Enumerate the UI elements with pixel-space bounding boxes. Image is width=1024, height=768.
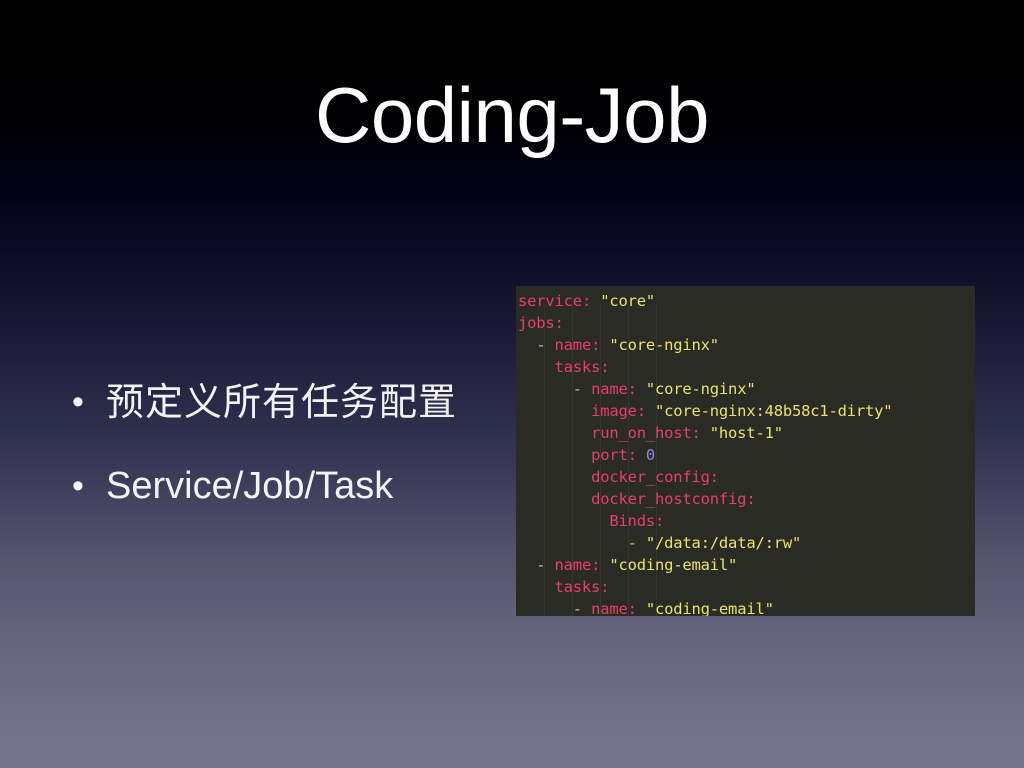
- code-token-str: "core-nginx": [646, 380, 756, 398]
- code-lines: service: "core"jobs: - name: "core-nginx…: [516, 290, 975, 616]
- code-block: service: "core"jobs: - name: "core-nginx…: [516, 286, 975, 616]
- code-token-key: name: [555, 336, 592, 354]
- code-token-plain: [518, 402, 591, 420]
- code-token-punct: :: [628, 446, 646, 464]
- code-token-punct: :: [746, 490, 755, 508]
- list-item-label: 预定义所有任务配置: [106, 378, 492, 426]
- code-token-punct: :: [591, 556, 609, 574]
- code-line: tasks:: [516, 576, 975, 598]
- code-token-key: image: [591, 402, 637, 420]
- code-token-key: name: [591, 380, 628, 398]
- list-item-label: Service/Job/Task: [106, 462, 492, 510]
- code-line: image: "core-nginx:48b58c1-dirty": [516, 400, 975, 422]
- code-token-plain: [518, 600, 573, 616]
- list-item: •预定义所有任务配置: [72, 378, 492, 426]
- code-line: - "/data:/data/:rw": [516, 532, 975, 554]
- code-token-str: "coding-email": [646, 600, 774, 616]
- code-line: run_on_host: "host-1": [516, 422, 975, 444]
- code-token-str: "core-nginx": [609, 336, 719, 354]
- code-line: - name: "coding-email": [516, 554, 975, 576]
- code-token-plain: [545, 336, 554, 354]
- code-token-plain: [518, 490, 591, 508]
- code-token-punct: :: [628, 600, 646, 616]
- code-token-plain: [545, 556, 554, 574]
- code-token-punct: :: [555, 314, 564, 332]
- code-token-key: tasks: [555, 358, 601, 376]
- code-token-str: "host-1": [710, 424, 783, 442]
- code-token-key: tasks: [555, 578, 601, 596]
- code-token-key: jobs: [518, 314, 555, 332]
- code-token-punct: :: [591, 336, 609, 354]
- code-line: - name: "core-nginx": [516, 334, 975, 356]
- bullet-list: •预定义所有任务配置•Service/Job/Task: [72, 378, 492, 546]
- code-token-punct: :: [582, 292, 600, 310]
- code-token-key: name: [591, 600, 628, 616]
- code-token-str: "coding-email": [609, 556, 737, 574]
- code-token-dash: -: [573, 380, 582, 398]
- page-title: Coding-Job: [0, 76, 1024, 154]
- code-token-key: run_on_host: [591, 424, 691, 442]
- code-line: Binds:: [516, 510, 975, 532]
- code-token-str: "/data:/data/:rw": [646, 534, 801, 552]
- code-token-str: "core-nginx:48b58c1-dirty": [655, 402, 892, 420]
- code-line: - name: "core-nginx": [516, 378, 975, 400]
- code-token-key: docker_config: [591, 468, 710, 486]
- bullet-dot-icon: •: [72, 378, 106, 426]
- code-token-plain: [518, 556, 536, 574]
- code-token-plain: [637, 534, 646, 552]
- code-token-plain: [518, 424, 591, 442]
- code-line: port: 0: [516, 444, 975, 466]
- code-token-plain: [518, 578, 555, 596]
- code-token-key: name: [555, 556, 592, 574]
- code-token-plain: [518, 380, 573, 398]
- code-token-dash: -: [573, 600, 582, 616]
- code-token-punct: :: [710, 468, 719, 486]
- code-token-plain: [518, 468, 591, 486]
- code-token-plain: [518, 336, 536, 354]
- list-item: •Service/Job/Task: [72, 462, 492, 510]
- code-token-dash: -: [628, 534, 637, 552]
- code-token-num: 0: [646, 446, 655, 464]
- code-token-key: Binds: [609, 512, 655, 530]
- code-token-plain: [518, 446, 591, 464]
- code-token-punct: :: [655, 512, 664, 530]
- code-token-key: port: [591, 446, 628, 464]
- code-token-key: docker_hostconfig: [591, 490, 746, 508]
- slide-canvas: Coding-Job •预定义所有任务配置•Service/Job/Task s…: [0, 0, 1024, 768]
- code-line: jobs:: [516, 312, 975, 334]
- code-token-plain: [518, 534, 628, 552]
- code-line: docker_hostconfig:: [516, 488, 975, 510]
- code-token-punct: :: [600, 578, 609, 596]
- code-token-punct: :: [600, 358, 609, 376]
- code-token-plain: [582, 380, 591, 398]
- code-line: tasks:: [516, 356, 975, 378]
- code-token-punct: :: [628, 380, 646, 398]
- code-line: docker_config:: [516, 466, 975, 488]
- code-token-plain: [582, 600, 591, 616]
- code-token-key: service: [518, 292, 582, 310]
- code-token-plain: [518, 358, 555, 376]
- code-token-punct: :: [692, 424, 710, 442]
- code-token-str: "core": [600, 292, 655, 310]
- code-line: service: "core": [516, 290, 975, 312]
- code-token-plain: [518, 512, 609, 530]
- bullet-dot-icon: •: [72, 462, 106, 510]
- code-token-punct: :: [637, 402, 655, 420]
- code-line: - name: "coding-email": [516, 598, 975, 616]
